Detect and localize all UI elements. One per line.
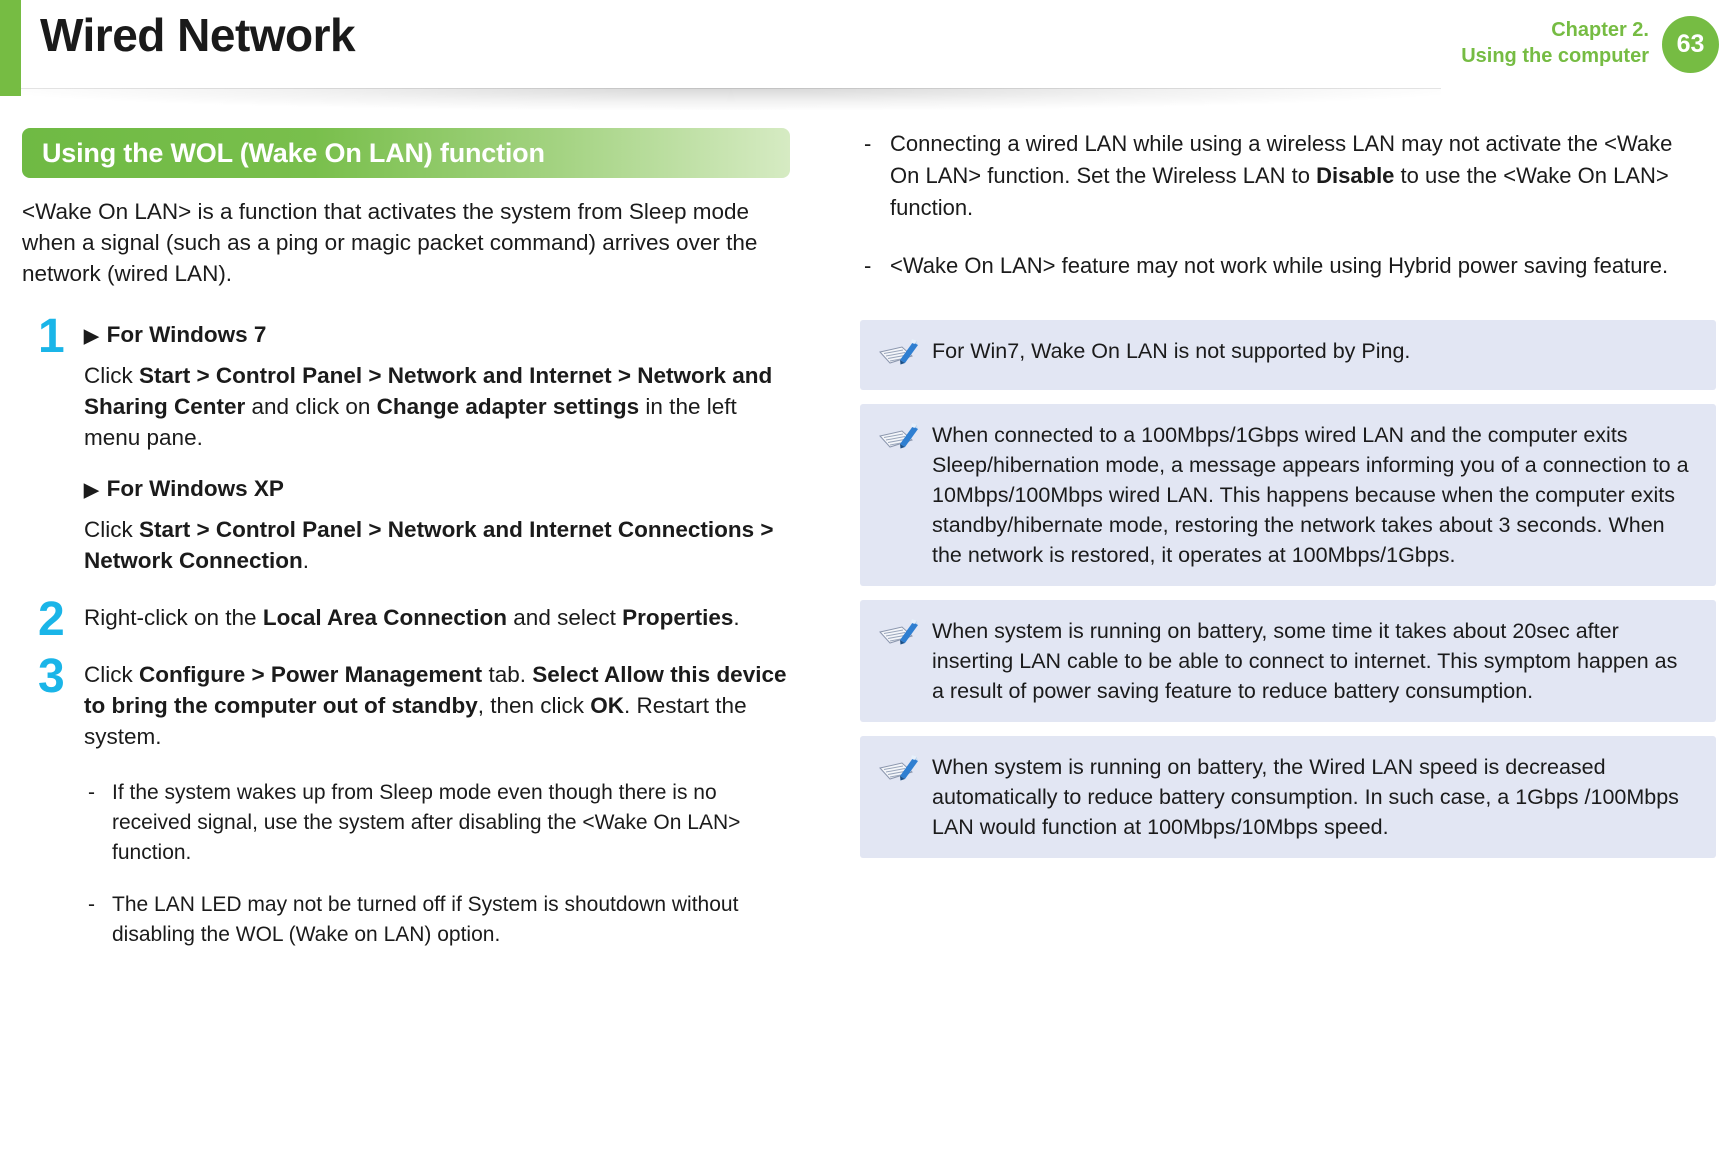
header-green-accent-bar [0, 0, 21, 96]
left-column: Using the WOL (Wake On LAN) function <Wa… [22, 128, 792, 950]
right-bullet-item: - Connecting a wired LAN while using a w… [860, 128, 1700, 224]
note-pencil-icon [878, 618, 920, 654]
note-box: When system is running on battery, the W… [860, 736, 1716, 858]
step-1-body-windowsxp: Click Start > Control Panel > Network an… [84, 514, 792, 576]
dash-marker-icon: - [88, 778, 95, 808]
chapter-number-label: Chapter 2. [1461, 17, 1649, 43]
left-bullet-text: If the system wakes up from Sleep mode e… [112, 781, 740, 864]
left-bullet-list: - If the system wakes up from Sleep mode… [84, 778, 792, 950]
note-text: For Win7, Wake On LAN is not supported b… [932, 336, 1694, 366]
section-banner-title: Using the WOL (Wake On LAN) function [42, 138, 545, 169]
left-bullet-item: - The LAN LED may not be turned off if S… [84, 890, 784, 950]
note-pencil-icon [878, 754, 920, 790]
step-1-subheading-windows7: ▶For Windows 7 [84, 319, 792, 352]
right-column: - Connecting a wired LAN while using a w… [860, 128, 1716, 872]
step-3-number: 3 [38, 653, 65, 701]
step-1-subheading-windowsxp: ▶For Windows XP [84, 473, 792, 506]
step-1-subheading-windowsxp-label: For Windows XP [107, 476, 284, 501]
page-header: Wired Network Chapter 2. Using the compu… [0, 0, 1735, 96]
chapter-label: Chapter 2. Using the computer [1461, 17, 1649, 69]
step-2: 2 Right-click on the Local Area Connecti… [22, 602, 792, 633]
intro-paragraph: <Wake On LAN> is a function that activat… [22, 196, 782, 289]
arrow-marker-icon: ▶ [84, 475, 99, 506]
note-text: When system is running on battery, some … [932, 616, 1694, 706]
note-pencil-icon [878, 422, 920, 458]
step-1-body-windows7: Click Start > Control Panel > Network an… [84, 360, 792, 453]
step-3-body: Click Configure > Power Management tab. … [84, 659, 792, 752]
note-box: When connected to a 100Mbps/1Gbps wired … [860, 404, 1716, 586]
dash-marker-icon: - [864, 128, 871, 160]
left-bullet-item: - If the system wakes up from Sleep mode… [84, 778, 784, 868]
right-bullet-text: Connecting a wired LAN while using a wir… [890, 131, 1672, 220]
note-text: When system is running on battery, the W… [932, 752, 1694, 842]
note-box: When system is running on battery, some … [860, 600, 1716, 722]
page-number-badge: 63 [1662, 16, 1719, 73]
section-banner: Using the WOL (Wake On LAN) function [22, 128, 790, 178]
dash-marker-icon: - [864, 250, 871, 282]
note-box: For Win7, Wake On LAN is not supported b… [860, 320, 1716, 390]
step-1: 1 ▶For Windows 7 Click Start > Control P… [22, 319, 792, 576]
right-bullet-item: - <Wake On LAN> feature may not work whi… [860, 250, 1700, 282]
right-bullet-text: <Wake On LAN> feature may not work while… [890, 253, 1668, 278]
note-box-list: For Win7, Wake On LAN is not supported b… [860, 320, 1716, 858]
header-shadow [21, 88, 1441, 110]
note-pencil-icon [878, 338, 920, 374]
note-text: When connected to a 100Mbps/1Gbps wired … [932, 420, 1694, 570]
right-bullet-list: - Connecting a wired LAN while using a w… [860, 128, 1716, 282]
chapter-title-label: Using the computer [1461, 43, 1649, 69]
step-2-number: 2 [38, 596, 65, 644]
page-title: Wired Network [40, 8, 355, 62]
left-bullet-text: The LAN LED may not be turned off if Sys… [112, 893, 738, 946]
step-1-number: 1 [38, 313, 65, 361]
step-2-body: Right-click on the Local Area Connection… [84, 602, 792, 633]
arrow-marker-icon: ▶ [84, 321, 99, 352]
step-3: 3 Click Configure > Power Management tab… [22, 659, 792, 752]
dash-marker-icon: - [88, 890, 95, 920]
step-1-subheading-windows7-label: For Windows 7 [107, 322, 267, 347]
